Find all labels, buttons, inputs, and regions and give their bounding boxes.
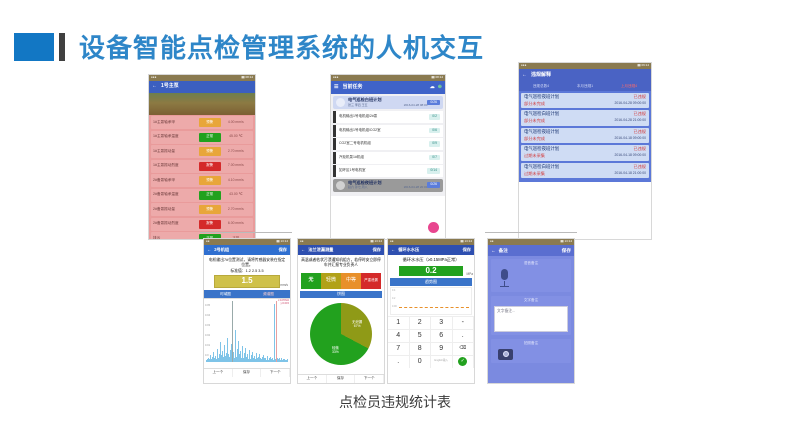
back-arrow-icon[interactable]: ← xyxy=(152,84,157,90)
tab-inactive[interactable]: 本月违规1 xyxy=(563,82,607,91)
list-item[interactable]: 如环区1号电机室0/14 xyxy=(333,165,443,177)
keypad-key[interactable]: 9 xyxy=(431,342,453,355)
text-remark-card: 文字备注 文字备注... xyxy=(491,296,571,335)
keypad-key[interactable]: 7 xyxy=(388,342,410,355)
photo-remark-card[interactable]: 拍照备注 xyxy=(491,339,571,363)
save-button[interactable]: 保存 xyxy=(562,248,571,253)
spectrum-chart: x:1078Hz y:0.0150.050.040.030.020.010.0 xyxy=(204,298,290,368)
y-axis-tick: 0.03 xyxy=(205,325,210,328)
status-badge: 报警 xyxy=(199,162,221,171)
decorative-divider xyxy=(485,232,577,233)
plan-name: 电气巡检白班计划 xyxy=(524,112,559,117)
cloud-sync-icon[interactable]: ☁ xyxy=(430,85,435,91)
table-row[interactable]: 2#备泵振动量预警2.70 mm/s xyxy=(151,203,253,216)
nav-button[interactable]: 保存 xyxy=(233,369,262,377)
leak-level-option[interactable]: 无 xyxy=(301,273,321,289)
keypad-key[interactable]: ✓ xyxy=(453,355,475,368)
list-item[interactable]: 电机输出1号电机组/2#泵0/2 xyxy=(333,111,443,123)
subitem-name: CO2室二号电机机组 xyxy=(339,142,371,146)
nav-button[interactable]: 上一个 xyxy=(298,375,327,383)
nav-buttons: 上一个保存下一个 xyxy=(204,368,290,377)
back-arrow-icon[interactable]: ← xyxy=(491,248,496,253)
back-arrow-icon[interactable]: ← xyxy=(391,248,395,253)
task-assignee: 张三 李四 王五 xyxy=(348,104,368,107)
app-title: 当前任务 xyxy=(342,85,429,91)
slide-title-row: 设备智能点检管理系统的人机交互 xyxy=(14,28,484,65)
measure-name: 1#主泵轴承温度 xyxy=(153,135,199,139)
violation-reason: 过期未采集 xyxy=(524,172,545,177)
app-bar: ← 循环水水压 保存 xyxy=(388,245,474,255)
tab-active[interactable]: 上月违规4 xyxy=(607,82,651,91)
status-badge: 预警 xyxy=(199,147,221,156)
save-button[interactable]: 保存 xyxy=(463,248,471,253)
back-arrow-icon[interactable]: ← xyxy=(522,73,527,79)
violation-reason: 部分未完成 xyxy=(524,102,545,107)
measure-name: 2#备泵轴承甲 xyxy=(153,179,199,183)
hamburger-menu-icon[interactable]: ☰ xyxy=(334,85,338,91)
plan-name: 电气巡检夜班计划 xyxy=(524,147,559,152)
violation-record[interactable]: 电气巡检夜班计划已违规部分未完成2016-04-18 09:00:00 xyxy=(521,128,649,143)
violation-record[interactable]: 电气巡检白班计划已违规部分未完成2016-04-28 21:00:00 xyxy=(521,110,649,125)
subitem-name: 电机输出1号电机组/CO2室 xyxy=(339,129,381,133)
subitem-count: 0/7 xyxy=(429,155,440,161)
table-row[interactable]: 1#主泵振动量预警2.70 mm/s xyxy=(151,145,253,158)
measure-value: 6.00 mm/s xyxy=(221,222,251,226)
y-axis-tick: 0.0 xyxy=(205,355,209,358)
back-arrow-icon[interactable]: ← xyxy=(207,248,211,253)
violation-reason: 过期未采集 xyxy=(524,154,545,159)
violation-record[interactable]: 电气巡检夜班计划已违规过期未采集2016-04-18 09:00:00 xyxy=(521,145,649,160)
list-item[interactable]: CO2室二号电机机组0/9 xyxy=(333,138,443,150)
pie-slice-label: 轻微 33% xyxy=(332,347,339,354)
status-badge: 已违规 xyxy=(633,112,646,117)
app-title: 法兰泄漏测量 xyxy=(308,248,372,253)
slide-canvas: 设备智能点检管理系统的人机交互 ●●●▮▮ 08:14 ← 1号主泵 1#主泵轴… xyxy=(0,0,790,444)
chart-title: 饼图 xyxy=(300,291,382,298)
table-row[interactable]: 1#主泵轴承温度正常45.00 ℃ xyxy=(151,131,253,144)
task-assignee: 赵六 孙七 周八 xyxy=(348,186,368,189)
leak-level-option[interactable]: 中等 xyxy=(341,273,361,289)
list-item[interactable]: 电机输出1号电机组/CO2室0/6 xyxy=(333,125,443,137)
violation-record[interactable]: 电气巡检夜班计划已违规部分未完成2016-04-28 09:00:00 xyxy=(521,93,649,108)
remark-cards: 语音备注 文字备注 文字备注... 拍照备注 xyxy=(488,256,574,384)
measure-value: 43.00 ℃ xyxy=(221,193,251,197)
measure-value: 2.70 mm/s xyxy=(221,208,251,212)
measure-name: 2#备泵振动烈度 xyxy=(153,222,199,226)
task-date: 2016-04-28 08:00 xyxy=(404,104,428,107)
app-title: 1号主泵 xyxy=(161,84,252,90)
phone-mockup-pump-detail: ●●●▮▮ 08:14 ← 1号主泵 1#主泵轴承甲预警4.00 mm/s1#主… xyxy=(148,74,256,240)
violation-list: 电气巡检夜班计划已违规部分未完成2016-04-28 09:00:00电气巡检白… xyxy=(519,91,651,182)
phone-mockup-remarks: ●●▮▮ 13:14 ← 备注 保存 语音备注 文字备注 文字备注... 拍照备… xyxy=(487,238,575,384)
measure-name: 排污 xyxy=(153,237,199,240)
measured-value-unit: MPa xyxy=(466,273,473,277)
numeric-keypad: 123-456.789⌫.0English输入✓ xyxy=(388,316,474,368)
pie-chart: 无泄漏 67%轻微 33% xyxy=(310,303,372,365)
trend-chart: 0.40.20.00 xyxy=(390,287,472,315)
task-date: 2016-04-28 20:00 xyxy=(404,186,428,189)
phone-mockup-vibration-spectrum: ●●▮▮ 13:14 ← 2号机组 保存 电机输出7#位置测试，请将传感器安装在… xyxy=(203,238,291,384)
nav-button[interactable]: 下一个 xyxy=(261,369,290,377)
measure-name: 1#主泵振动烈度 xyxy=(153,164,199,168)
microphone-icon[interactable] xyxy=(498,269,511,289)
plan-name: 电气巡检夜班计划 xyxy=(524,130,559,135)
nav-button[interactable]: 上一个 xyxy=(204,369,233,377)
status-badge: 已违规 xyxy=(633,147,646,152)
plan-name: 电气巡检夜班计划 xyxy=(524,95,559,100)
measure-name: 2#备泵轴承温度 xyxy=(153,193,199,197)
add-circle-icon[interactable]: ⊕ xyxy=(438,85,442,91)
table-row[interactable]: 2#备泵轴承温度正常43.00 ℃ xyxy=(151,189,253,202)
voice-remark-title: 语音备注 xyxy=(494,262,568,266)
standard-value-text: 标准值：1.2 2.5 3.5 xyxy=(204,269,290,273)
phone-mockup-water-pressure: ●●▮▮ 13:14 ← 循环水水压 保存 循环水水压（≥0.15MPa正常） … xyxy=(387,238,475,384)
decorative-divider xyxy=(200,232,292,233)
title-accent-block xyxy=(14,33,54,61)
photo-remark-title: 拍照备注 xyxy=(494,342,568,346)
page-title: 设备智能点检管理系统的人机交互 xyxy=(79,28,484,65)
keypad-key[interactable]: 2 xyxy=(410,316,432,329)
subitem-name: 电机输出1号电机组/2#泵 xyxy=(339,115,377,119)
task-card[interactable]: 电气巡检白班计划张三 李四 王五2016-04-28 08:000/26 xyxy=(333,96,443,109)
keypad-key[interactable]: 0 xyxy=(410,355,432,368)
keypad-key[interactable]: - xyxy=(453,316,475,329)
y-axis-tick: 0.4 xyxy=(392,290,395,293)
app-title: 备注 xyxy=(499,248,562,253)
status-badge: 预警 xyxy=(199,118,221,127)
warning-note: 高温或者枯状污渍通知机组方，若停时安立即停车并汇报专业负责人 xyxy=(298,255,384,272)
marker-line xyxy=(276,301,277,362)
table-row[interactable]: 2#备泵轴承甲预警4.10 mm/s xyxy=(151,174,253,187)
nav-buttons: 上一个保存下一个 xyxy=(298,374,384,383)
nav-button[interactable]: 保存 xyxy=(327,375,356,383)
keypad-key[interactable]: 1 xyxy=(388,316,410,329)
tab-inactive[interactable]: 违规总数4 xyxy=(519,82,563,91)
plan-name: 电气巡检白班计划 xyxy=(524,165,559,170)
violation-datetime: 2016-04-18 09:00:00 xyxy=(615,137,646,142)
chart-title: 趋势图 xyxy=(390,278,472,285)
measure-list: 1#主泵轴承甲预警4.00 mm/s1#主泵轴承温度正常45.00 ℃1#主泵振… xyxy=(149,115,255,240)
measure-name: 1#主泵轴承甲 xyxy=(153,121,199,125)
avatar xyxy=(336,181,345,190)
keypad-key[interactable]: 4 xyxy=(388,329,410,342)
status-badge: 已违规 xyxy=(633,130,646,135)
app-bar: ☰ 当前任务 ☁ ⊕ xyxy=(331,81,445,94)
leak-level-option[interactable]: 严重泄漏 xyxy=(361,273,381,289)
status-badge: 已违规 xyxy=(633,95,646,100)
subitem-name: 如环区1号电机室 xyxy=(339,169,365,173)
leak-level-option[interactable]: 轻微 xyxy=(321,273,341,289)
subitem-count: 0/9 xyxy=(429,141,440,147)
list-item[interactable]: 汽轮机泵1#机组0/7 xyxy=(333,152,443,164)
leak-level-options: 无轻微中等严重泄漏 xyxy=(301,273,381,289)
table-row[interactable]: 1#主泵轴承甲预警4.00 mm/s xyxy=(151,116,253,129)
keypad-key[interactable]: English输入 xyxy=(431,355,453,368)
save-button[interactable]: 保存 xyxy=(373,248,381,253)
back-arrow-icon[interactable]: ← xyxy=(301,248,305,253)
status-badge: 正常 xyxy=(199,133,221,142)
measure-value: 45.00 ℃ xyxy=(221,135,251,139)
violation-tabs: 违规总数4本月违规1上月违规4 xyxy=(519,82,651,91)
measure-value: 4.10 mm/s xyxy=(221,179,251,183)
measured-value-unit: mm/s xyxy=(280,284,288,288)
phone-mockup-violation-records: ●●●▮▮ 09:14 ← 违规解释 违规总数4本月违规1上月违规4 电气巡检夜… xyxy=(518,62,652,240)
avatar xyxy=(336,98,345,107)
measured-value-number: 1.5 xyxy=(241,276,252,285)
chart-annotation: x:1078Hz y:0.015 xyxy=(278,300,289,306)
floating-action-button[interactable] xyxy=(428,222,439,233)
subitem-name: 汽轮机泵1#机组 xyxy=(339,156,364,160)
voice-remark-card[interactable]: 语音备注 xyxy=(491,259,571,292)
keypad-key[interactable]: 8 xyxy=(410,342,432,355)
app-title: 2号机组 xyxy=(214,248,278,253)
pie-slice-label: 无泄漏 67% xyxy=(352,321,362,328)
app-bar: ← 违规解释 xyxy=(519,69,651,82)
measure-value: 4.00 mm/s xyxy=(221,121,251,125)
app-bar: ← 1号主泵 xyxy=(149,81,255,93)
measure-value: 2.70 mm/s xyxy=(221,150,251,154)
cursor-line xyxy=(232,301,233,362)
status-badge: 报警 xyxy=(199,220,221,229)
violation-datetime: 2016-04-18 21:00:00 xyxy=(615,172,646,177)
app-title: 循环水水压 xyxy=(398,248,462,253)
trend-line xyxy=(399,307,469,308)
equipment-photo xyxy=(149,93,255,115)
app-bar: ← 2号机组 保存 xyxy=(204,245,290,255)
keypad-key[interactable]: . xyxy=(453,329,475,342)
measurement-label: 循环水水压（≥0.15MPa正常） xyxy=(388,255,474,265)
slide-caption: 点检员违规统计表 xyxy=(0,392,790,412)
phone-mockup-flange-leak: ●●▮▮ 13:14 ← 法兰泄漏测量 保存 高温或者枯状污渍通知机组方，若停时… xyxy=(297,238,385,384)
camera-icon[interactable] xyxy=(498,349,513,360)
y-axis-tick: 0.2 xyxy=(392,298,395,301)
y-axis-tick: 0.04 xyxy=(205,315,210,318)
phone-mockup-current-tasks: ●●●▮▮ 08:14 ☰ 当前任务 ☁ ⊕ 电气巡检白班计划张三 李四 王五2… xyxy=(330,74,446,240)
save-button[interactable]: 保存 xyxy=(279,248,287,253)
task-list: 电气巡检白班计划张三 李四 王五2016-04-28 08:000/26电机输出… xyxy=(331,94,445,196)
chart-mode-tabs: 时域图频谱图 xyxy=(204,290,290,298)
text-remark-input[interactable]: 文字备注... xyxy=(494,306,568,332)
keypad-key[interactable]: 6 xyxy=(431,329,453,342)
chart-mode-tab[interactable]: 频谱图 xyxy=(247,290,290,298)
table-row[interactable]: 2#备泵振动烈度报警6.00 mm/s xyxy=(151,218,253,231)
keypad-key[interactable]: ⌫ xyxy=(453,342,475,355)
measured-value[interactable]: 0.2 MPa xyxy=(399,266,463,277)
task-title: 电气巡检白班计划 xyxy=(348,98,427,103)
table-row[interactable]: 1#主泵振动烈度报警7.00 mm/s xyxy=(151,160,253,173)
measured-value-number: 0.2 xyxy=(425,266,436,275)
violation-datetime: 2016-04-28 09:00:00 xyxy=(615,102,646,107)
status-badge: 预警 xyxy=(199,205,221,214)
text-remark-title: 文字备注 xyxy=(494,299,568,303)
spectrum-bar xyxy=(274,304,275,362)
subitem-count: 0/6 xyxy=(429,128,440,134)
task-count: 0/26 xyxy=(427,182,440,188)
keypad-key[interactable]: . xyxy=(388,355,410,368)
title-accent-bar xyxy=(59,33,65,61)
nav-button[interactable]: 下一个 xyxy=(355,375,384,383)
chart-mode-tab[interactable]: 时域图 xyxy=(204,290,247,298)
measure-value: 7.00 mm/s xyxy=(221,164,251,168)
task-count: 0/26 xyxy=(427,100,440,106)
app-bar: ← 法兰泄漏测量 保存 xyxy=(298,245,384,255)
keypad-key[interactable]: 3 xyxy=(431,316,453,329)
violation-reason: 部分未完成 xyxy=(524,119,545,124)
instruction-text: 电机输出7#位置测试，请将传感器安装在指定位置。 xyxy=(204,255,290,269)
spectrum-bar xyxy=(287,360,288,362)
y-axis-tick: 0.05 xyxy=(205,305,210,308)
violation-reason: 部分未完成 xyxy=(524,137,545,142)
status-badge: 预警 xyxy=(199,176,221,185)
violation-datetime: 2016-04-28 21:00:00 xyxy=(615,119,646,124)
y-axis-tick: 0.02 xyxy=(205,335,210,338)
app-bar: ← 备注 保存 xyxy=(488,245,574,256)
measure-name: 1#主泵振动量 xyxy=(153,150,199,154)
subitem-count: 0/14 xyxy=(427,168,440,174)
y-axis-tick: 0.00 xyxy=(392,306,397,309)
measured-value[interactable]: 1.5 mm/s xyxy=(214,275,280,288)
status-badge: 正常 xyxy=(199,191,221,200)
violation-record[interactable]: 电气巡检白班计划已违规过期未采集2016-04-18 21:00:00 xyxy=(521,163,649,178)
measure-name: 2#备泵振动量 xyxy=(153,208,199,212)
status-badge: 已违规 xyxy=(633,165,646,170)
subitem-count: 0/2 xyxy=(429,114,440,120)
y-axis-tick: 0.01 xyxy=(205,345,210,348)
keypad-key[interactable]: 5 xyxy=(410,329,432,342)
task-card[interactable]: 电气巡检夜班计划赵六 孙七 周八2016-04-28 20:000/26 xyxy=(333,179,443,192)
confirm-icon[interactable]: ✓ xyxy=(458,357,467,366)
app-title: 违规解释 xyxy=(531,73,648,79)
violation-datetime: 2016-04-18 09:00:00 xyxy=(615,154,646,159)
